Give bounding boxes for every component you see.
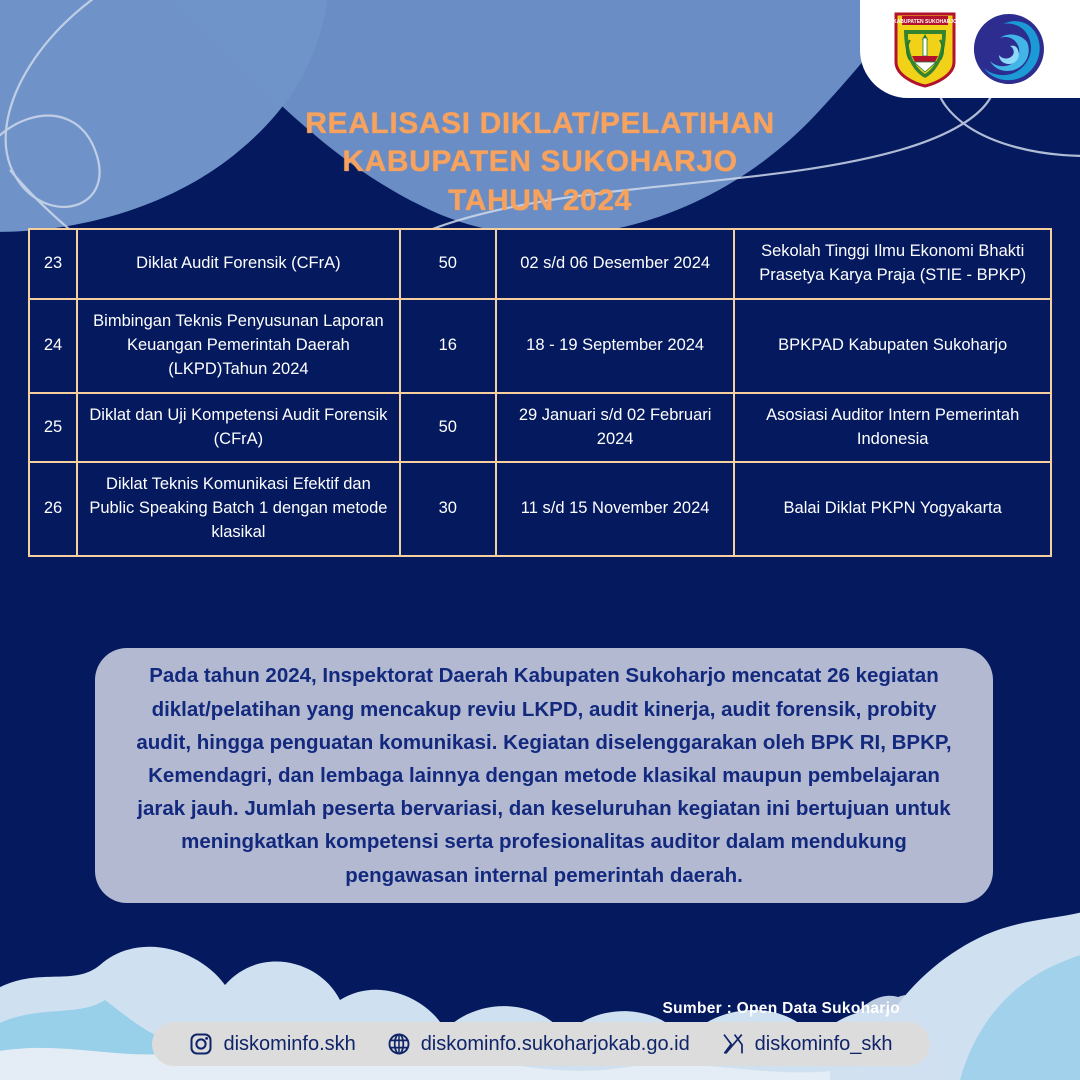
cell-tanggal: 02 s/d 06 Desember 2024	[496, 229, 734, 299]
cell-jumlah: 50	[400, 393, 496, 463]
social-x-label: diskominfo_skh	[755, 1033, 893, 1056]
table-row: 23 Diklat Audit Forensik (CFrA) 50 02 s/…	[29, 229, 1051, 299]
social-footer-bar: diskominfo.skh diskominfo.sukoharjokab.g…	[152, 1022, 930, 1066]
cell-tanggal: 29 Januari s/d 02 Februari 2024	[496, 393, 734, 463]
cell-no: 26	[29, 462, 77, 556]
logo-panel: KABUPATEN SUKOHARJO	[860, 0, 1080, 98]
cell-penyelenggara: BPKPAD Kabupaten Sukoharjo	[734, 299, 1051, 393]
svg-text:KABUPATEN SUKOHARJO: KABUPATEN SUKOHARJO	[894, 19, 956, 25]
diklat-table-body: 23 Diklat Audit Forensik (CFrA) 50 02 s/…	[29, 229, 1051, 556]
globe-icon	[387, 1032, 411, 1056]
diklat-table-container: 23 Diklat Audit Forensik (CFrA) 50 02 s/…	[28, 228, 1052, 557]
diklat-table: 23 Diklat Audit Forensik (CFrA) 50 02 s/…	[28, 228, 1052, 557]
cell-tanggal: 11 s/d 15 November 2024	[496, 462, 734, 556]
table-row: 25 Diklat dan Uji Kompetensi Audit Foren…	[29, 393, 1051, 463]
cell-nama: Diklat dan Uji Kompetensi Audit Forensik…	[77, 393, 400, 463]
kominfo-logo	[972, 12, 1046, 86]
title-line-2: KABUPATEN SUKOHARJO	[0, 143, 1080, 181]
cell-nama: Diklat Teknis Komunikasi Efektif dan Pub…	[77, 462, 400, 556]
infographic-canvas: KABUPATEN SUKOHARJO REALISASI DIKLAT/PEL…	[0, 0, 1080, 1080]
x-twitter-icon	[721, 1032, 745, 1056]
table-row: 24 Bimbingan Teknis Penyusunan Laporan K…	[29, 299, 1051, 393]
page-title: REALISASI DIKLAT/PELATIHAN KABUPATEN SUK…	[0, 105, 1080, 220]
cell-penyelenggara: Sekolah Tinggi Ilmu Ekonomi Bhakti Prase…	[734, 229, 1051, 299]
cell-nama: Diklat Audit Forensik (CFrA)	[77, 229, 400, 299]
cell-penyelenggara: Balai Diklat PKPN Yogyakarta	[734, 462, 1051, 556]
cell-jumlah: 16	[400, 299, 496, 393]
social-x[interactable]: diskominfo_skh	[721, 1032, 893, 1056]
social-instagram-label: diskominfo.skh	[223, 1033, 355, 1056]
social-website-label: diskominfo.sukoharjokab.go.id	[421, 1033, 690, 1056]
cell-no: 23	[29, 229, 77, 299]
kabupaten-sukoharjo-logo: KABUPATEN SUKOHARJO	[894, 10, 956, 88]
social-instagram[interactable]: diskominfo.skh	[189, 1032, 355, 1056]
cell-nama: Bimbingan Teknis Penyusunan Laporan Keua…	[77, 299, 400, 393]
title-line-3: TAHUN 2024	[0, 182, 1080, 220]
cell-tanggal: 18 - 19 September 2024	[496, 299, 734, 393]
table-row: 26 Diklat Teknis Komunikasi Efektif dan …	[29, 462, 1051, 556]
cell-jumlah: 50	[400, 229, 496, 299]
cell-no: 24	[29, 299, 77, 393]
title-line-1: REALISASI DIKLAT/PELATIHAN	[0, 105, 1080, 143]
cell-no: 25	[29, 393, 77, 463]
summary-text: Pada tahun 2024, Inspektorat Daerah Kabu…	[125, 659, 963, 891]
summary-box: Pada tahun 2024, Inspektorat Daerah Kabu…	[95, 648, 993, 903]
source-label: Sumber : Open Data Sukoharjo	[663, 1000, 901, 1018]
instagram-icon	[189, 1032, 213, 1056]
cell-jumlah: 30	[400, 462, 496, 556]
social-website[interactable]: diskominfo.sukoharjokab.go.id	[387, 1032, 690, 1056]
cell-penyelenggara: Asosiasi Auditor Intern Pemerintah Indon…	[734, 393, 1051, 463]
